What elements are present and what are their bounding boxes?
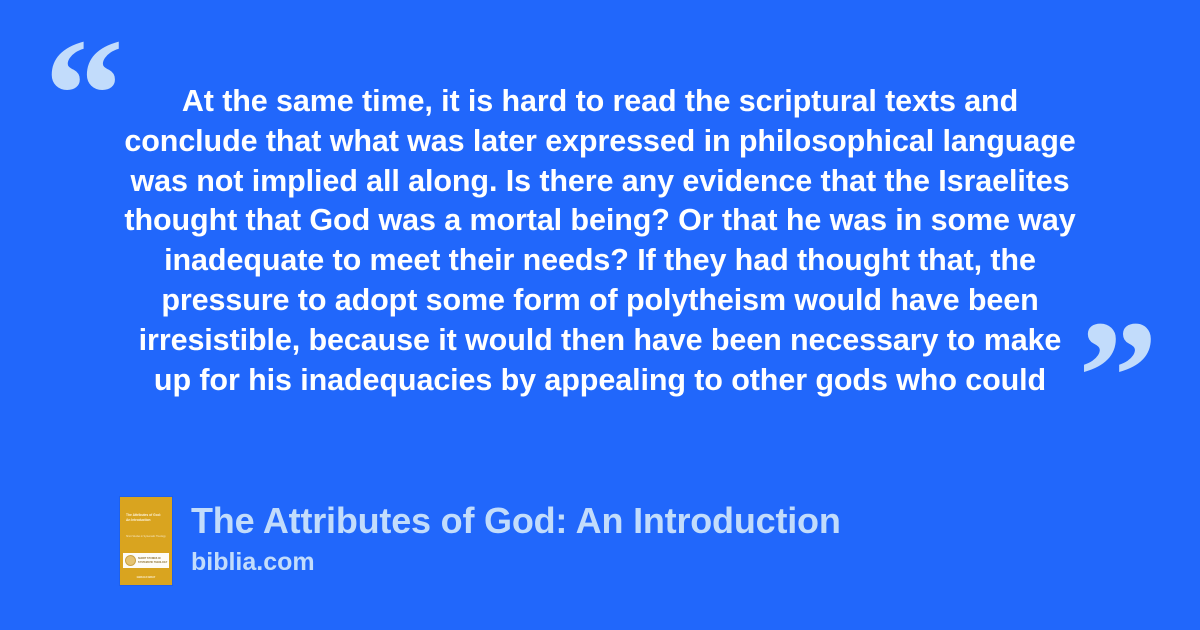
quote-line: was not implied all along. Is there any … [96,162,1104,202]
quote-card: “ At the same time, it is hard to read t… [0,0,1200,630]
attribution-footer: The Attributes of God: An Introduction S… [120,497,841,585]
book-cover-series-text: SHORT STUDIES IN SYSTEMATIC THEOLOGY [138,557,169,563]
quote-line: pressure to adopt some form of polytheis… [96,281,1104,321]
attribution-text-column: The Attributes of God: An Introduction b… [191,497,841,578]
quote-line: thought that God was a mortal being? Or … [96,201,1104,241]
book-cover-title: The Attributes of God: An Introduction [126,513,166,523]
quote-line: irresistible, because it would then have… [96,321,1104,361]
book-cover-author: GERALD BRAY [126,576,166,579]
book-cover-subtitle: Short Studies in Systematic Theology [126,535,166,538]
quote-line: up for his inadequacies by appealing to … [96,361,1104,401]
quote-line: inadequate to meet their needs? If they … [96,241,1104,281]
closing-quote-icon: ” [1078,296,1158,456]
book-cover-thumbnail: The Attributes of God: An Introduction S… [120,497,172,585]
quote-line: conclude that what was later expressed i… [96,122,1104,162]
site-name: biblia.com [191,546,841,578]
book-title: The Attributes of God: An Introduction [191,499,841,543]
book-cover-series-band: SHORT STUDIES IN SYSTEMATIC THEOLOGY [123,553,169,568]
quote-text-block: At the same time, it is hard to read the… [96,82,1104,400]
book-cover-seal-icon [125,555,136,566]
quote-line: At the same time, it is hard to read the… [96,82,1104,122]
